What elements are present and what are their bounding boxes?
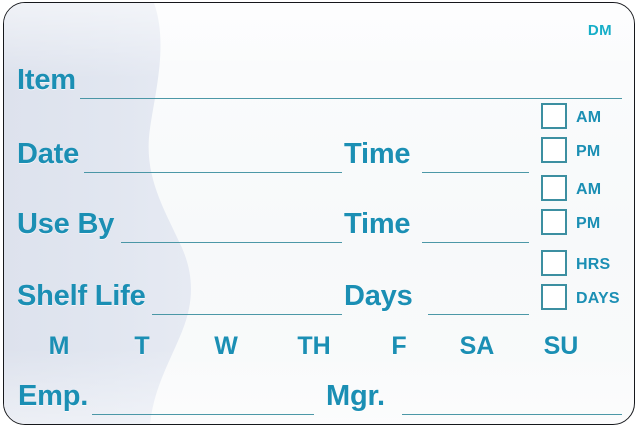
day-of-week-friday[interactable]: F [375, 334, 423, 359]
shelf-life-field-label: Shelf Life [17, 282, 146, 311]
checkbox-hrs[interactable] [541, 250, 567, 276]
day-of-week-wednesday[interactable]: W [202, 334, 250, 359]
label-card: DM Item Date Time Use By Time Shelf Life… [3, 2, 635, 425]
checkbox-days[interactable] [541, 284, 567, 310]
checkbox-date-pm[interactable] [541, 137, 567, 163]
manager-field-label: Mgr. [326, 382, 385, 411]
use-by-time-write-line[interactable] [422, 242, 529, 243]
checkbox-date-pm-label: PM [576, 144, 600, 160]
employee-field-label: Emp. [18, 382, 88, 411]
day-of-week-sunday[interactable]: SU [532, 334, 590, 359]
shelf-life-write-line[interactable] [152, 314, 342, 315]
checkbox-use-by-pm[interactable] [541, 209, 567, 235]
checkbox-days-label: DAYS [576, 291, 620, 307]
employee-write-line[interactable] [92, 414, 314, 415]
use-by-field-label: Use By [17, 210, 114, 239]
date-time-field-label: Time [344, 140, 410, 169]
day-of-week-monday[interactable]: M [35, 334, 83, 359]
checkbox-date-am-label: AM [576, 110, 601, 126]
checkbox-date-am[interactable] [541, 103, 567, 129]
checkbox-use-by-am-label: AM [576, 182, 601, 198]
shelf-life-days-field-label: Days [344, 282, 413, 311]
checkbox-hrs-label: HRS [576, 257, 610, 273]
food-safety-label: DM Item Date Time Use By Time Shelf Life… [0, 0, 640, 429]
shelf-life-days-write-line[interactable] [428, 314, 529, 315]
item-field-label: Item [17, 66, 76, 95]
date-write-line[interactable] [84, 172, 342, 173]
item-write-line[interactable] [80, 98, 622, 99]
day-of-week-tuesday[interactable]: T [118, 334, 166, 359]
checkbox-use-by-am[interactable] [541, 175, 567, 201]
day-of-week-saturday[interactable]: SA [449, 334, 505, 359]
brand-mark: DM [588, 23, 612, 38]
date-time-write-line[interactable] [422, 172, 529, 173]
manager-write-line[interactable] [402, 414, 622, 415]
use-by-write-line[interactable] [121, 242, 342, 243]
use-by-time-field-label: Time [344, 210, 410, 239]
date-field-label: Date [17, 140, 79, 169]
checkbox-use-by-pm-label: PM [576, 216, 600, 232]
day-of-week-thursday[interactable]: TH [285, 334, 343, 359]
